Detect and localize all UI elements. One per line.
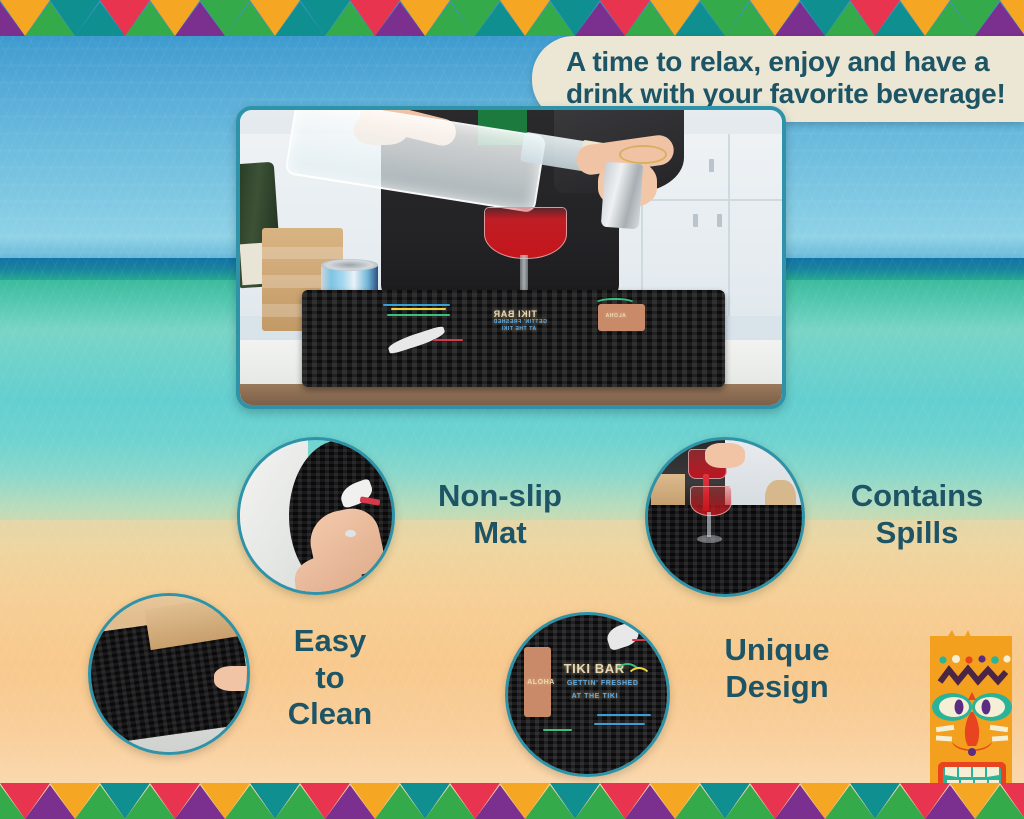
beverage-can-top (321, 259, 378, 271)
feature-photo-easy-to-clean (88, 593, 250, 755)
mat-flamingo-beak (632, 639, 654, 641)
kitchen-floor (240, 384, 782, 405)
coupe-glass-stem (707, 512, 711, 537)
bar-mat-artwork: TIKI BAR GETTIN' FRESHED AT THE TIKI ALO… (302, 290, 725, 387)
mat-flamingo (604, 620, 641, 651)
bracelet (619, 145, 666, 164)
mat-water-wave (597, 714, 651, 716)
mat-title-text: TIKI BAR (493, 309, 537, 319)
product-infographic: A time to relax, enjoy and have a drink … (0, 0, 1024, 819)
jigger-measuring-cup (601, 162, 643, 229)
bottom-triangle-border (0, 783, 1024, 819)
tiki-left-eye-white (939, 697, 969, 717)
feature-label-non-slip-mat: Non-slip Mat (400, 478, 600, 551)
main-photo-scene: TIKI BAR GETTIN' FRESHED AT THE TIKI ALO… (240, 110, 782, 405)
bottom-border-triangles (0, 783, 1024, 819)
easy-to-clean-photo-scene (91, 596, 247, 752)
feature-photo-unique-design: ALOHA TIKI BAR GETTIN' FRESHED AT THE TI… (505, 612, 670, 777)
cabinet-seam (728, 134, 730, 317)
cabinet-handle (709, 159, 714, 172)
hand-lifting-mat (214, 666, 250, 691)
mat-flamingo-beak (433, 339, 463, 341)
mat-palm-frond (626, 667, 652, 693)
finger-ring (345, 530, 356, 538)
bar-mat: TIKI BAR GETTIN' FRESHED AT THE TIKI ALO… (302, 290, 725, 387)
coupe-glass-bowl (484, 207, 567, 259)
tiki-right-pupil (982, 700, 991, 715)
tiki-nose-dot (968, 748, 976, 756)
mat-grass (543, 729, 572, 731)
top-triangle-border (0, 0, 1024, 36)
bar-mat-artwork: ALOHA TIKI BAR GETTIN' FRESHED AT THE TI… (508, 615, 667, 774)
feature-label-contains-spills: Contains Spills (812, 478, 1022, 551)
feature-label-unique-design: Unique Design (682, 632, 872, 705)
non-slip-photo-scene (240, 440, 392, 592)
mat-statue-label: ALOHA (527, 679, 555, 686)
tiki-left-pupil (955, 700, 964, 715)
feature-label-easy-to-clean: Easy to Clean (255, 623, 405, 733)
tiki-mask-mascot (918, 630, 1024, 800)
mat-subtitle-line2: AT THE TIKI (572, 693, 619, 700)
main-product-photo: TIKI BAR GETTIN' FRESHED AT THE TIKI ALO… (236, 106, 786, 409)
feature-photo-non-slip-mat (237, 437, 395, 595)
mat-subtitle-line1: GETTIN' FRESHED (493, 319, 547, 325)
feature-photo-contains-spills (645, 437, 805, 597)
crate-slat (262, 247, 343, 259)
tiki-mask-icon (918, 630, 1024, 800)
mat-subtitle-line2: AT THE TIKI (501, 326, 536, 332)
bar-mat (648, 505, 802, 594)
cabinet-handle (717, 214, 722, 227)
contains-spills-photo-scene (648, 440, 802, 594)
top-border-triangles (0, 0, 1024, 36)
mat-statue-label: ALOHA (605, 313, 626, 319)
pouring-hand (705, 443, 745, 468)
mat-water-wave (594, 723, 645, 725)
unique-design-photo-scene: ALOHA TIKI BAR GETTIN' FRESHED AT THE TI… (508, 615, 667, 774)
cabinet-handle (693, 214, 698, 227)
cabinet-seam (641, 199, 782, 201)
